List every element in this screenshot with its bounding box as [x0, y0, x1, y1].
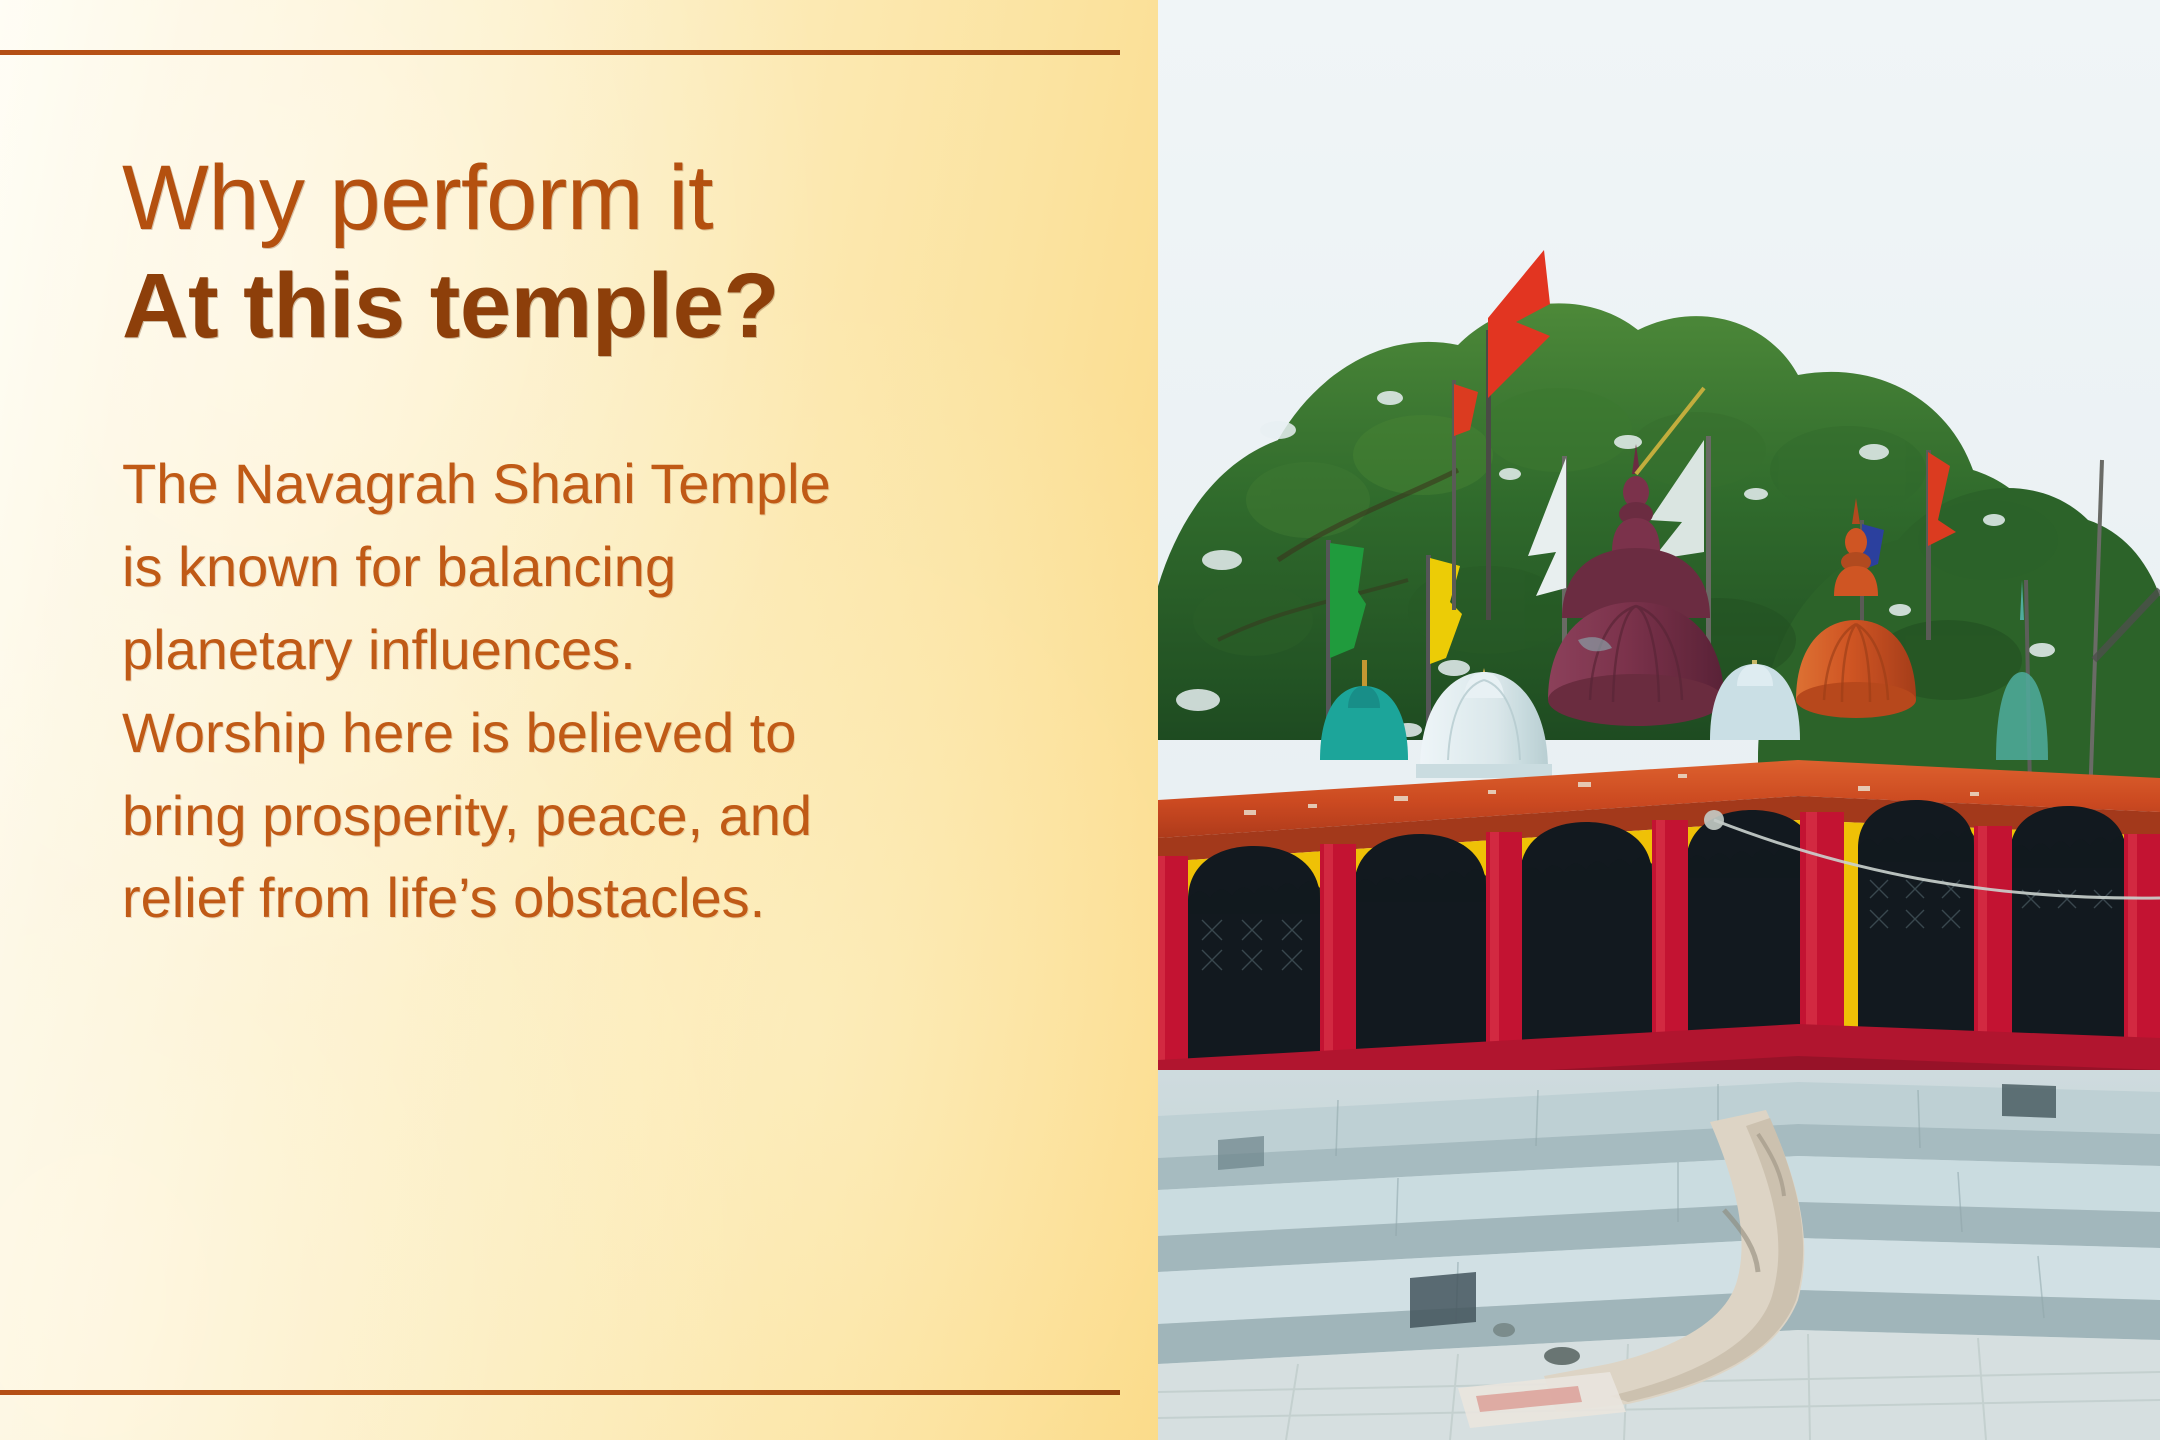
body-paragraph: The Navagrah Shani Temple is known for b…: [122, 443, 842, 940]
page-title-line-2: At this temple?: [122, 258, 1088, 356]
slide-root: Why perform it At this temple? The Navag…: [0, 0, 2160, 1440]
temple-photo: [1158, 0, 2160, 1440]
text-panel: Why perform it At this temple? The Navag…: [0, 0, 1158, 1440]
temple-photo-illustration: [1158, 0, 2160, 1440]
page-title-line-1: Why perform it: [122, 150, 1088, 248]
page-title: Why perform it At this temple?: [122, 150, 1088, 355]
bottom-divider-rule: [0, 1390, 1120, 1395]
photo-color-grade: [1158, 0, 2160, 1440]
panel-content: Why perform it At this temple? The Navag…: [0, 0, 1158, 940]
